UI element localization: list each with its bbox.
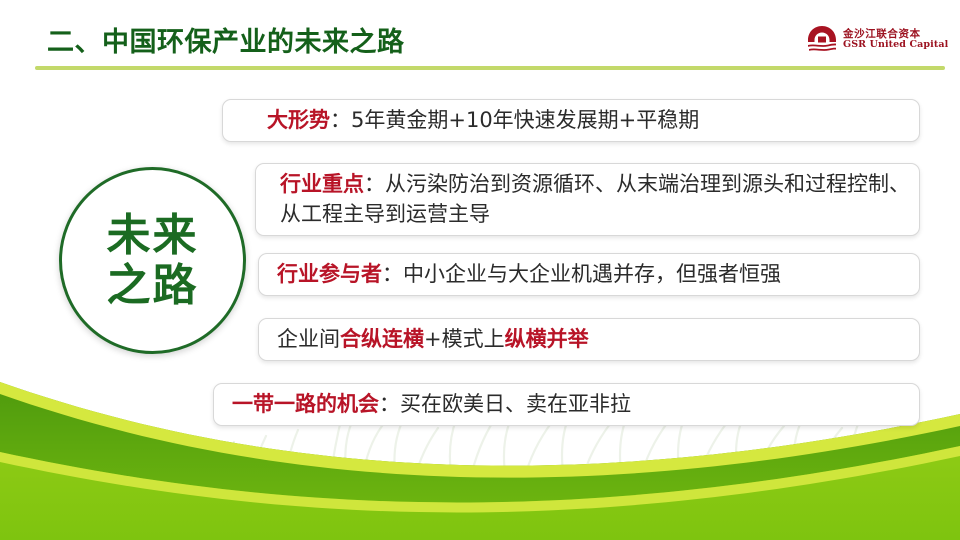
emphasis-text: 一带一路的机会 [232,392,379,416]
emphasis-text: 大形势 [267,108,330,132]
logo-name-en: GSR United Capital [843,40,948,50]
badge-line-2: 之路 [107,261,199,310]
emphasis-text: 合纵连横 [340,327,424,351]
future-road-badge: 未来 之路 [59,167,246,354]
logo-name-cn: 金沙江联合资本 [843,29,948,40]
emphasis-text: 行业参与者 [277,262,382,286]
body-text: +模式上 [424,327,505,351]
title-divider [35,66,945,70]
badge-line-1: 未来 [107,211,199,260]
info-box-belt-and-road[interactable]: 一带一路的机会：买在欧美日、卖在亚非拉 [213,383,920,426]
body-text: 企业间 [277,327,340,351]
emphasis-text: 纵横并举 [505,327,589,351]
body-text: ：中小企业与大企业机遇并存，但强者恒强 [382,262,781,286]
info-box-participants[interactable]: 行业参与者：中小企业与大企业机遇并存，但强者恒强 [258,253,920,296]
body-text: ：买在欧美日、卖在亚非拉 [379,392,631,416]
slide-canvas: 二、中国环保产业的未来之路 金沙江联合资本 GSR United Capital… [0,0,960,540]
info-box-text: 行业参与者：中小企业与大企业机遇并存，但强者恒强 [271,260,781,290]
company-logo: 金沙江联合资本 GSR United Capital [806,24,948,54]
logo-text-group: 金沙江联合资本 GSR United Capital [843,29,948,50]
info-box-alliances[interactable]: 企业间合纵连横+模式上纵横并举 [258,318,920,361]
info-box-industry-focus[interactable]: 行业重点：从污染防治到资源循环、从末端治理到源头和过程控制、从工程主导到运营主导 [255,163,920,236]
emphasis-text: 行业重点 [280,172,364,196]
info-box-trend[interactable]: 大形势：5年黄金期+10年快速发展期+平稳期 [222,99,920,142]
info-box-text: 行业重点：从污染防治到资源循环、从末端治理到源头和过程控制、从工程主导到运营主导 [274,170,919,230]
info-box-text: 企业间合纵连横+模式上纵横并举 [271,325,589,355]
info-box-text: 一带一路的机会：买在欧美日、卖在亚非拉 [226,390,631,420]
body-text: ：从污染防治到资源循环、从末端治理到源头和过程控制、从工程主导到运营主导 [280,172,910,226]
gsr-arch-icon [806,24,838,54]
body-text: ：5年黄金期+10年快速发展期+平稳期 [330,108,699,132]
info-box-text: 大形势：5年黄金期+10年快速发展期+平稳期 [261,106,699,136]
page-title: 二、中国环保产业的未来之路 [47,20,405,59]
